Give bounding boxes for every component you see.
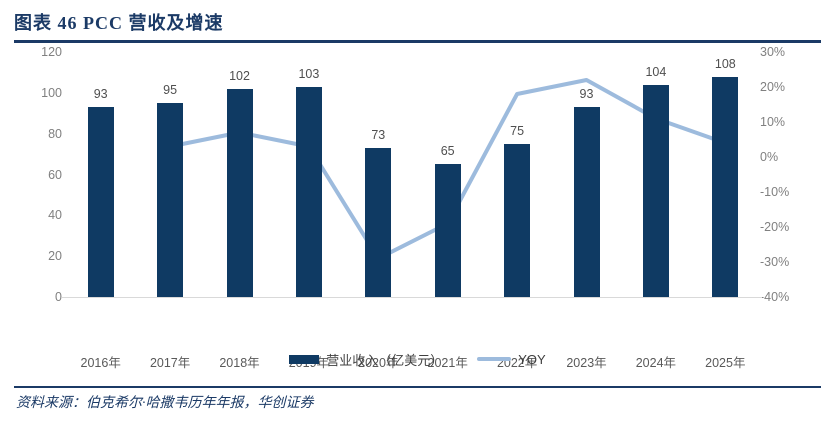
source-note: 资料来源：伯克希尔·哈撒韦历年年报，华创证券 — [16, 392, 314, 412]
legend-item-revenue: 营业收入（亿美元） — [289, 350, 443, 369]
y-axis-tick-right: -10% — [760, 185, 789, 199]
y-axis-tick-left: 120 — [41, 45, 62, 59]
bar-value-label: 95 — [163, 83, 177, 97]
bar-value-label: 93 — [580, 87, 594, 101]
y-axis-tick-right: -20% — [760, 220, 789, 234]
chart-legend: 营业收入（亿美元） YOY — [0, 348, 835, 370]
y-axis-tick-left: 80 — [48, 127, 62, 141]
plot-canvas: 939510210373657593104108 — [66, 52, 760, 297]
bar-value-label: 75 — [510, 124, 524, 138]
chart-page: 图表 46 PCC 营收及增速 020406080100120 -40%-30%… — [0, 0, 835, 421]
bar-value-label: 73 — [371, 128, 385, 142]
legend-bar-swatch-icon — [289, 355, 319, 364]
y-axis-tick-right: 10% — [760, 115, 785, 129]
bar-2021年 — [435, 164, 461, 297]
legend-label-revenue: 营业收入（亿美元） — [326, 350, 443, 369]
bar-value-label: 93 — [94, 87, 108, 101]
bar-value-label: 108 — [715, 57, 736, 71]
chart-header: 图表 46 PCC 营收及增速 — [14, 10, 821, 44]
bar-value-label: 104 — [645, 65, 666, 79]
y-axis-left: 020406080100120 — [18, 52, 62, 302]
y-axis-right: -40%-30%-20%-10%0%10%20%30% — [760, 52, 820, 302]
legend-line-swatch-icon — [477, 357, 511, 361]
bar-2020年 — [365, 148, 391, 297]
y-axis-tick-left: 40 — [48, 208, 62, 222]
y-axis-tick-right: 20% — [760, 80, 785, 94]
footer-divider — [14, 386, 821, 388]
y-axis-tick-right: 0% — [760, 150, 778, 164]
legend-item-yoy: YOY — [477, 352, 545, 367]
y-axis-tick-right: 30% — [760, 45, 785, 59]
page-title: 图表 46 PCC 营收及增速 — [14, 10, 821, 36]
bar-2017年 — [157, 103, 183, 297]
plot-area: 020406080100120 -40%-30%-20%-10%0%10%20%… — [0, 52, 835, 342]
bar-2025年 — [712, 77, 738, 298]
bar-2024年 — [643, 85, 669, 297]
bar-2023年 — [574, 107, 600, 297]
bar-2016年 — [88, 107, 114, 297]
legend-label-yoy: YOY — [518, 352, 545, 367]
title-divider — [14, 40, 821, 43]
y-axis-tick-left: 20 — [48, 249, 62, 263]
y-axis-tick-right: -40% — [760, 290, 789, 304]
y-axis-tick-right: -30% — [760, 255, 789, 269]
y-axis-tick-left: 0 — [55, 290, 62, 304]
y-axis-tick-left: 100 — [41, 86, 62, 100]
bar-2018年 — [227, 89, 253, 297]
bar-value-label: 65 — [441, 144, 455, 158]
bar-value-label: 103 — [298, 67, 319, 81]
y-axis-tick-left: 60 — [48, 168, 62, 182]
bar-2019年 — [296, 87, 322, 297]
bar-2022年 — [504, 144, 530, 297]
axis-baseline — [62, 297, 762, 298]
bar-value-label: 102 — [229, 69, 250, 83]
